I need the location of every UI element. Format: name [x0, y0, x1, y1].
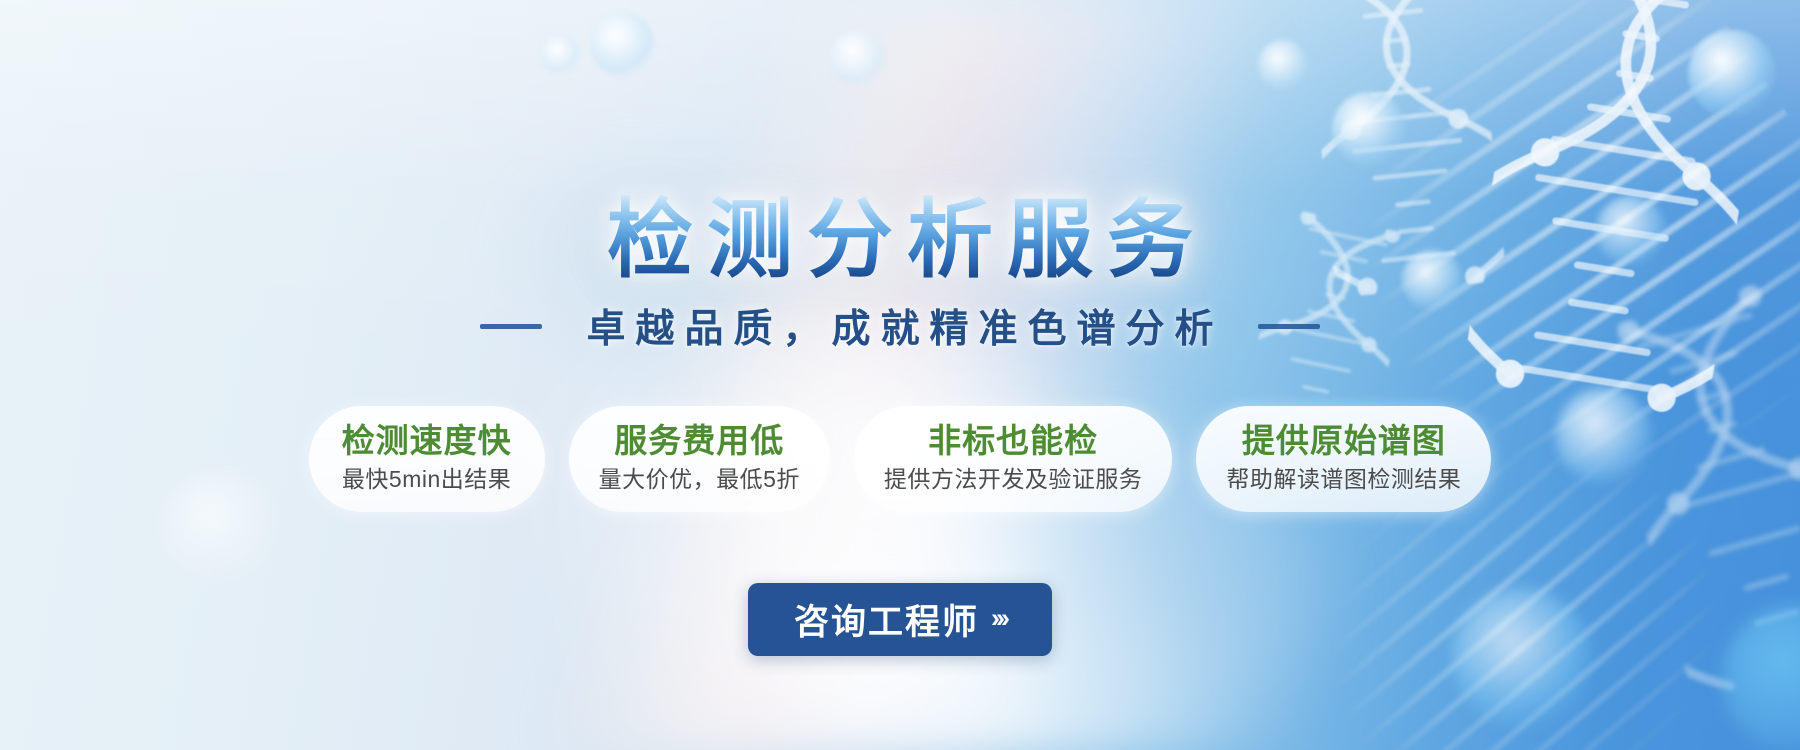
feature-pill-subtitle: 帮助解读谱图检测结果: [1226, 466, 1461, 494]
subtitle-row: 卓越品质，成就精准色谱分析: [0, 298, 1800, 354]
feature-pill-subtitle: 最快5min出结果: [339, 466, 515, 494]
feature-pill-subtitle: 量大价优，最低5折: [599, 466, 800, 494]
consult-engineer-button[interactable]: 咨询工程师 ›››: [748, 583, 1052, 656]
banner-content: 检测分析服务 卓越品质，成就精准色谱分析 检测速度快 最快5min出结果 服务费…: [0, 0, 1800, 750]
page-title: 检测分析服务: [0, 194, 1800, 287]
page-subtitle: 卓越品质，成就精准色谱分析: [576, 298, 1223, 354]
cta-label: 咨询工程师: [794, 594, 979, 645]
feature-pill-list: 检测速度快 最快5min出结果 服务费用低 量大价优，最低5折 非标也能检 提供…: [0, 406, 1800, 512]
feature-pill-title: 提供原始谱图: [1226, 422, 1461, 461]
promo-banner: 检测分析服务 卓越品质，成就精准色谱分析 检测速度快 最快5min出结果 服务费…: [0, 0, 1800, 750]
feature-pill-subtitle: 提供方法开发及验证服务: [884, 466, 1143, 494]
dash-right-icon: [1258, 324, 1320, 329]
feature-pill-title: 检测速度快: [339, 422, 515, 461]
chevron-right-triple-icon: ›››: [991, 603, 1006, 634]
feature-pill-nonstandard[interactable]: 非标也能检 提供方法开发及验证服务: [854, 406, 1173, 512]
feature-pill-title: 非标也能检: [884, 422, 1143, 461]
feature-pill-price[interactable]: 服务费用低 量大价优，最低5折: [569, 406, 830, 512]
feature-pill-speed[interactable]: 检测速度快 最快5min出结果: [309, 406, 545, 512]
feature-pill-title: 服务费用低: [599, 422, 800, 461]
cta-row: 咨询工程师 ›››: [0, 583, 1800, 656]
feature-pill-raw-spectra[interactable]: 提供原始谱图 帮助解读谱图检测结果: [1196, 406, 1491, 512]
dash-left-icon: [480, 324, 542, 329]
